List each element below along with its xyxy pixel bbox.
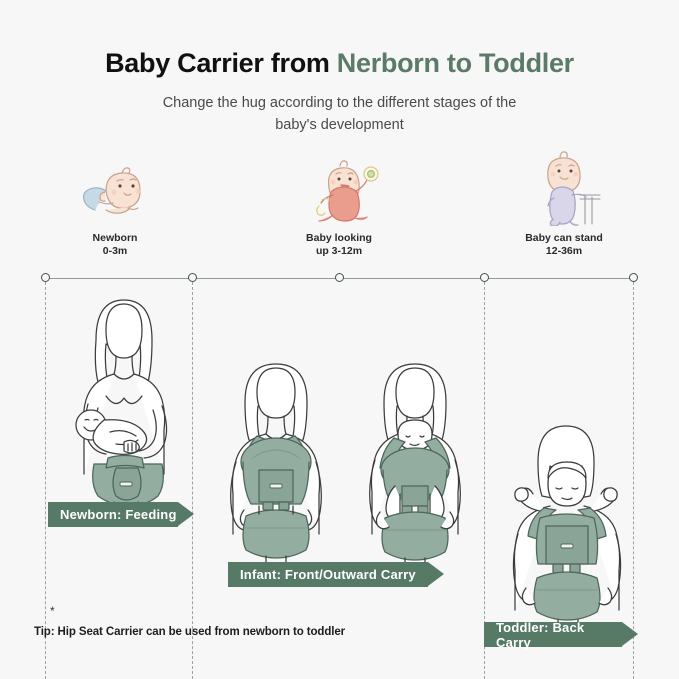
- banner-toddler-back-carry-label: Toddler: Back Carry: [496, 620, 622, 650]
- title-accent-text: Nerborn to Toddler: [337, 48, 574, 78]
- stage-newborn-line2: 0-3m: [103, 245, 128, 257]
- banner-infant-front-outward-carry[interactable]: Infant: Front/Outward Carry: [228, 562, 428, 587]
- mother-front-carry-figure: [213, 358, 339, 575]
- subtitle-line-2: baby's development: [275, 117, 404, 133]
- banner-infant-front-outward-carry-label: Infant: Front/Outward Carry: [240, 567, 416, 582]
- subtitle-line-1: Change the hug according to the differen…: [163, 95, 517, 111]
- banner-newborn-feeding-label: Newborn: Feeding: [60, 507, 177, 522]
- timeline-divider-3: [484, 282, 485, 679]
- timeline-divider-1: [45, 282, 46, 679]
- timeline-dot-3: [335, 273, 344, 282]
- timeline-dot-2: [188, 273, 197, 282]
- infographic-canvas: Baby Carrier from Nerborn to Toddler Cha…: [0, 0, 679, 679]
- timeline-divider-4: [633, 282, 634, 679]
- footnote-asterisk: *: [50, 604, 55, 618]
- mother-back-carry-figure: [500, 422, 632, 639]
- baby-crawling-icon: [30, 148, 200, 226]
- page-subtitle: Change the hug according to the differen…: [90, 92, 590, 136]
- stage-newborn-line1: Newborn: [93, 232, 138, 244]
- stage-baby-looking-up-line1: Baby looking: [306, 232, 372, 244]
- timeline-dot-5: [629, 273, 638, 282]
- stage-newborn-label: Newborn 0-3m: [30, 232, 200, 258]
- mother-outward-carry-figure: [352, 358, 478, 575]
- stage-baby-can-stand-label: Baby can stand 12-36m: [479, 232, 649, 258]
- timeline-dot-4: [480, 273, 489, 282]
- mother-cradle-feeding-figure: [58, 292, 190, 515]
- stage-baby-looking-up: Baby looking up 3-12m: [254, 148, 424, 258]
- stage-baby-looking-up-label: Baby looking up 3-12m: [254, 232, 424, 258]
- stage-baby-can-stand-line1: Baby can stand: [525, 232, 603, 244]
- stage-baby-can-stand-line2: 12-36m: [546, 245, 582, 257]
- timeline-divider-2: [192, 282, 193, 679]
- stage-baby-looking-up-line2: up 3-12m: [316, 245, 362, 257]
- stage-baby-can-stand: Baby can stand 12-36m: [479, 148, 649, 258]
- footnote-tip-text: Tip: Hip Seat Carrier can be used from n…: [34, 626, 345, 638]
- title-main-text: Baby Carrier from: [105, 48, 337, 78]
- baby-standing-icon: [479, 148, 649, 226]
- timeline-dot-1: [41, 273, 50, 282]
- stage-icon-row: Newborn 0-3m: [0, 148, 679, 268]
- banner-newborn-feeding[interactable]: Newborn: Feeding: [48, 502, 178, 527]
- banner-toddler-back-carry[interactable]: Toddler: Back Carry: [484, 622, 622, 647]
- page-title: Baby Carrier from Nerborn to Toddler: [0, 48, 679, 79]
- stage-newborn: Newborn 0-3m: [30, 148, 200, 258]
- baby-sitting-with-rattle-icon: [254, 148, 424, 226]
